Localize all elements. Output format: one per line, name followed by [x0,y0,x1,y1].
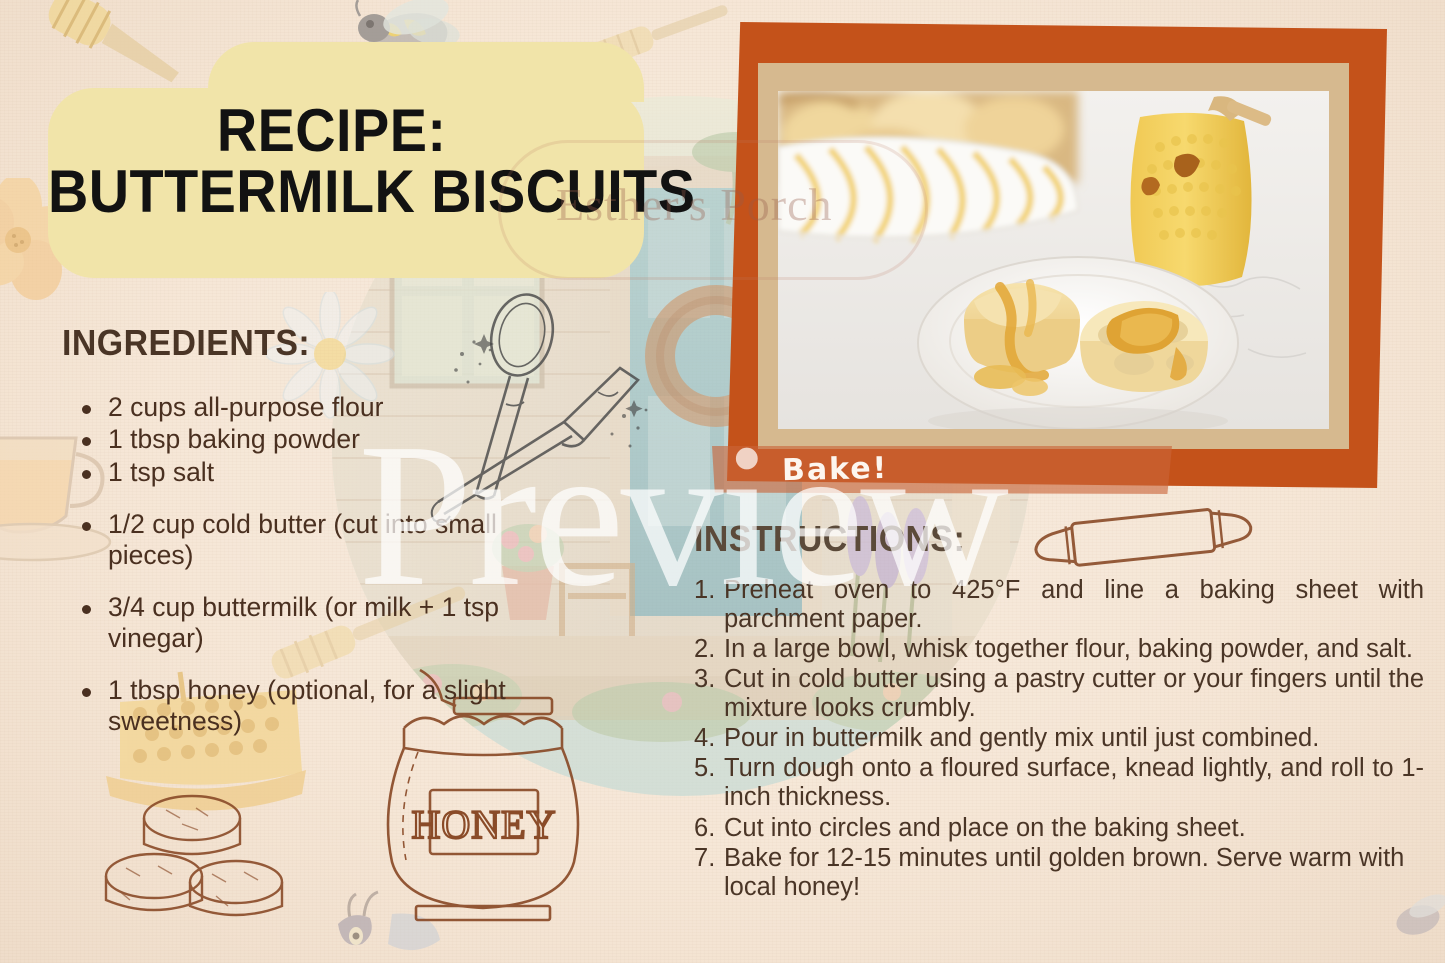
ingredient-item: 1/2 cup cold butter (cut into small piec… [62,509,582,570]
instruction-step: Cut into circles and place on the baking… [694,814,1424,843]
ingredient-item: 1 tsp salt [62,457,582,487]
ingredient-item: 1 tbsp honey (optional, for a slight swe… [62,675,582,736]
photo-frame [727,22,1387,488]
photo-mat [758,63,1349,449]
title-line-recipe: Recipe: [48,100,625,161]
title-line-dish: Buttermilk Biscuits [48,161,625,222]
instruction-step: Pour in buttermilk and gently mix until … [694,724,1424,753]
bee-decoration-bottom [330,890,530,963]
instructions-heading: Instructions: [694,518,1380,560]
ingredients-list: 2 cups all-purpose flour 1 tbsp baking p… [62,392,582,736]
instructions-section: Instructions: Preheat oven to 425°F and … [694,518,1424,903]
ingredients-section: Ingredients: 2 cups all-purpose flour 1 … [62,322,582,738]
instruction-step: Bake for 12-15 minutes until golden brow… [694,844,1424,902]
page-title: Recipe: Buttermilk Biscuits [48,100,625,222]
instruction-step: Cut in cold butter using a pastry cutter… [694,665,1424,723]
ingredient-item: 3/4 cup buttermilk (or milk + 1 tsp vine… [62,592,582,653]
ingredient-item: 2 cups all-purpose flour [62,392,582,422]
ingredients-heading: Ingredients: [62,322,551,364]
bake-caption: Bake! [782,451,889,488]
instructions-list: Preheat oven to 425°F and line a baking … [694,576,1424,902]
instruction-step: Preheat oven to 425°F and line a baking … [694,576,1424,634]
ingredient-item: 1 tbsp baking powder [62,424,582,454]
instruction-step: Turn dough onto a floured surface, knead… [694,754,1424,812]
recipe-card: HONEY [0,0,1445,963]
biscuits-photo [778,91,1329,429]
instruction-step: In a large bowl, whisk together flour, b… [694,635,1424,664]
honey-jar-label: HONEY [412,802,557,847]
